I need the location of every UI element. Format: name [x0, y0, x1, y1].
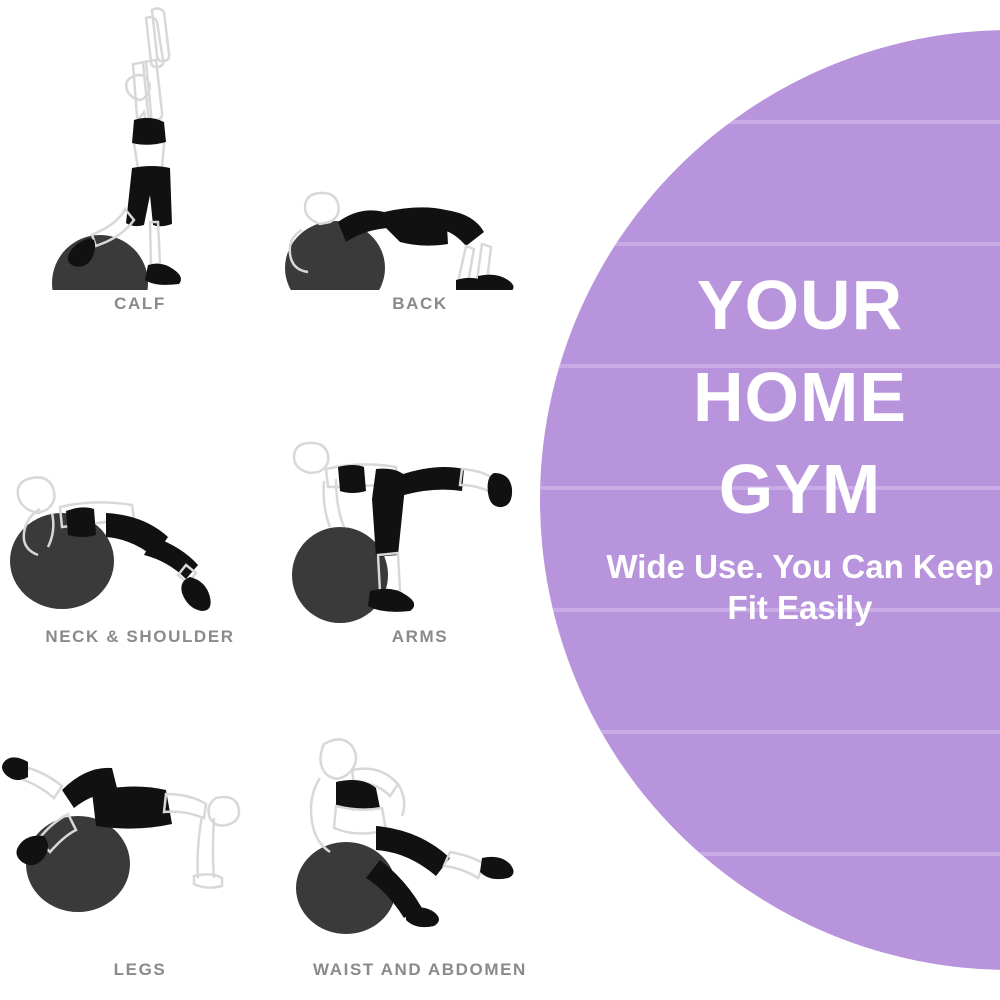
exercise-cell-waist-abdomen: WAIST AND ABDOMEN [280, 666, 560, 999]
promo-title-line-2: HOME [600, 362, 1000, 432]
exercise-label-neck-shoulder: NECK & SHOULDER [0, 627, 280, 647]
exercise-cell-calf: CALF [0, 0, 280, 333]
exercise-cell-arms: ARMS [280, 333, 560, 666]
exercise-cell-neck-shoulder: NECK & SHOULDER [0, 333, 280, 666]
back-bridge-on-ball-figure-icon [280, 0, 560, 290]
promo-subtitle: Wide Use. You Can Keep Fit Easily [600, 546, 1000, 629]
exercise-label-legs: LEGS [0, 960, 280, 980]
exercise-grid: CALF [0, 0, 560, 1000]
exercise-cell-back: BACK [280, 0, 560, 333]
promo-title-line-1: YOUR [600, 270, 1000, 340]
neck-shoulder-plank-on-ball-figure-icon [0, 333, 280, 623]
panel-stripe [540, 120, 1000, 124]
infographic-page: YOUR HOME GYM Wide Use. You Can Keep Fit… [0, 0, 1000, 1000]
exercise-label-waist-abdomen: WAIST AND ABDOMEN [280, 960, 560, 980]
exercise-label-arms: ARMS [280, 627, 560, 647]
panel-stripe [540, 242, 1000, 246]
waist-abdomen-twist-on-ball-figure-icon [280, 666, 560, 956]
exercise-cell-legs: LEGS [0, 666, 280, 999]
legs-raise-on-ball-figure-icon [0, 666, 280, 956]
panel-stripe [540, 730, 1000, 734]
exercise-label-calf: CALF [0, 294, 280, 314]
promo-text-block: YOUR HOME GYM Wide Use. You Can Keep Fit… [600, 270, 1000, 629]
promo-title-line-3: GYM [600, 454, 1000, 524]
calf-raise-on-ball-figure-icon [0, 0, 280, 290]
exercise-label-back: BACK [280, 294, 560, 314]
panel-stripe [540, 852, 1000, 856]
arms-support-on-ball-figure-icon [280, 333, 560, 623]
